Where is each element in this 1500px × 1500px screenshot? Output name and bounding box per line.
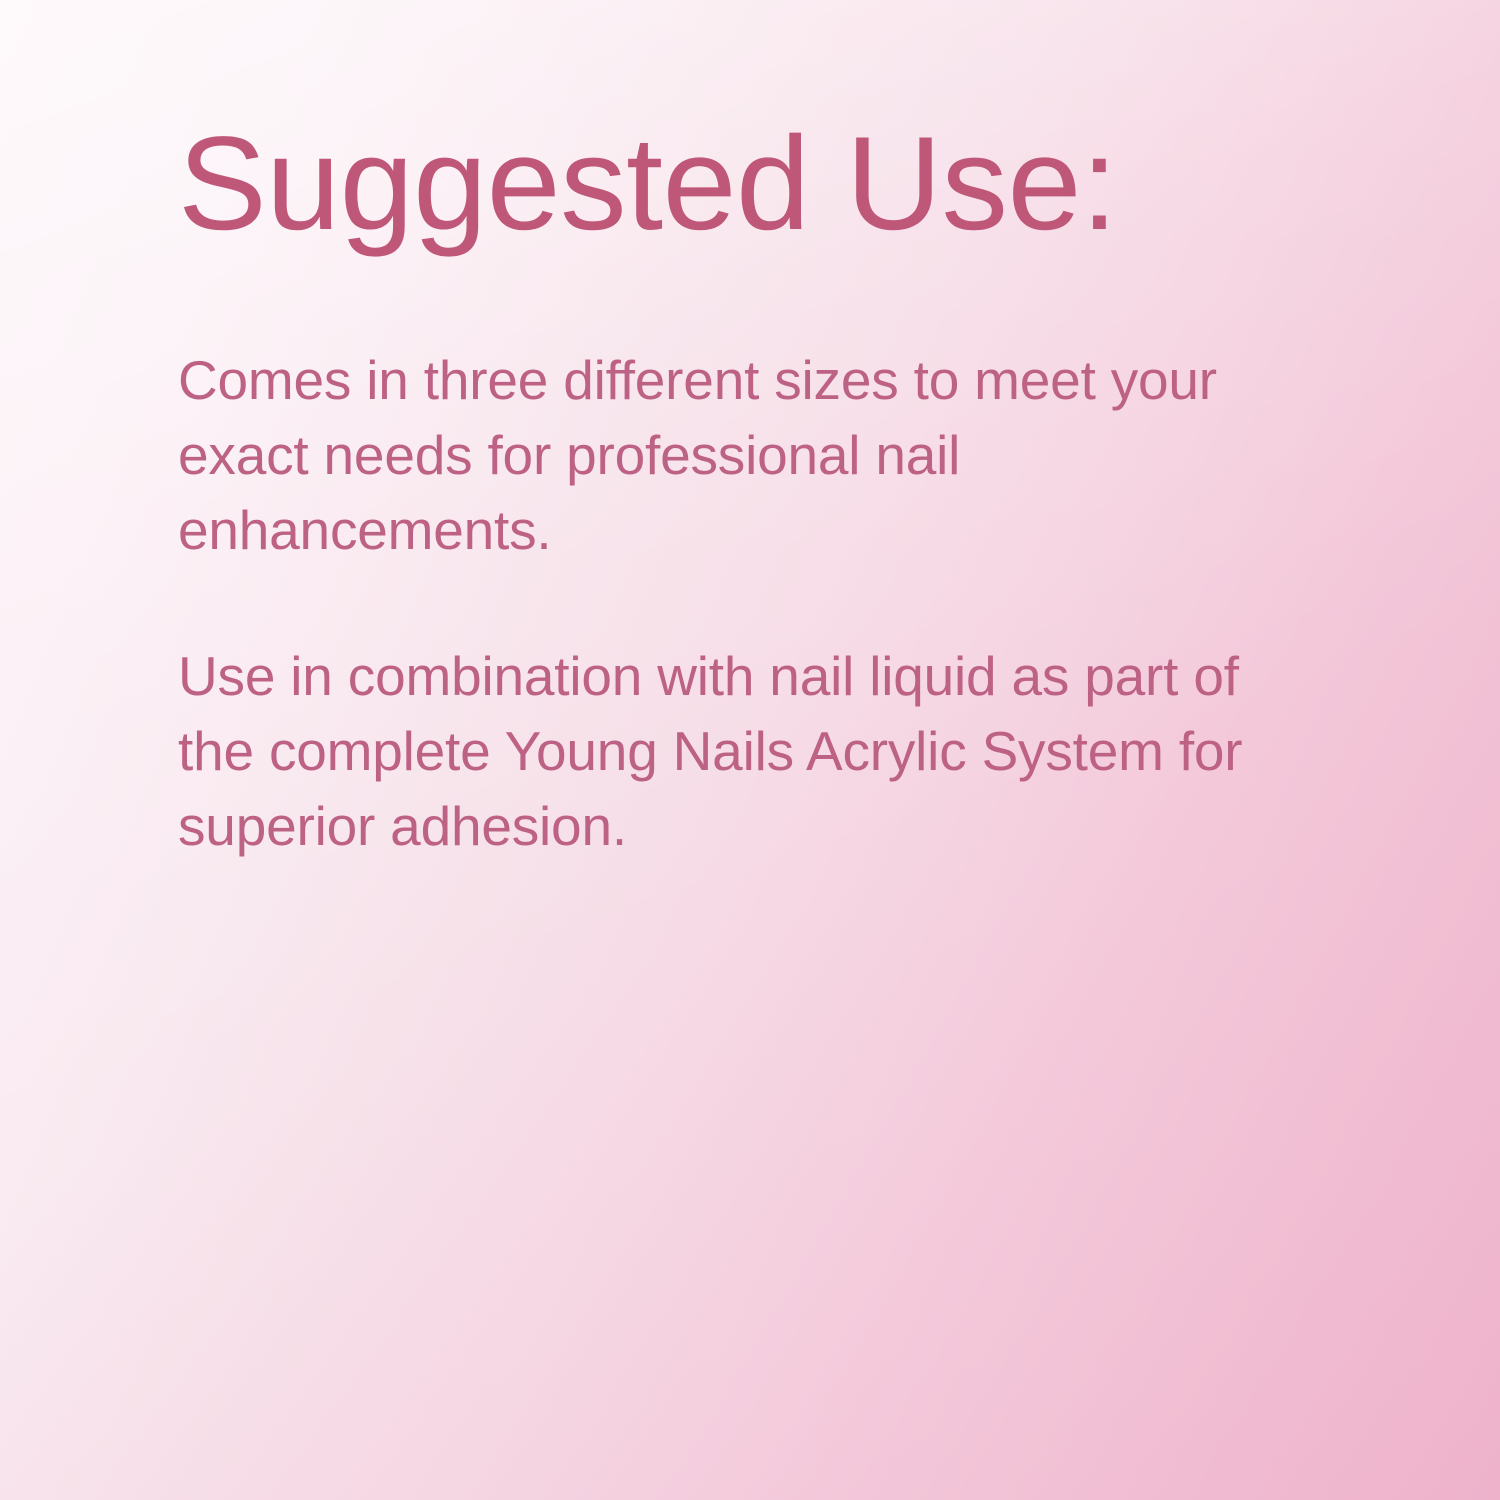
body-paragraph-usage: Use in combination with nail liquid as p… [178,639,1263,863]
body-text-block: Comes in three different sizes to meet y… [178,343,1288,864]
page-title: Suggested Use: [178,118,1288,251]
suggested-use-panel: Suggested Use: Comes in three different … [0,0,1500,1500]
content-container: Suggested Use: Comes in three different … [178,118,1288,864]
body-paragraph-sizes: Comes in three different sizes to meet y… [178,343,1263,567]
